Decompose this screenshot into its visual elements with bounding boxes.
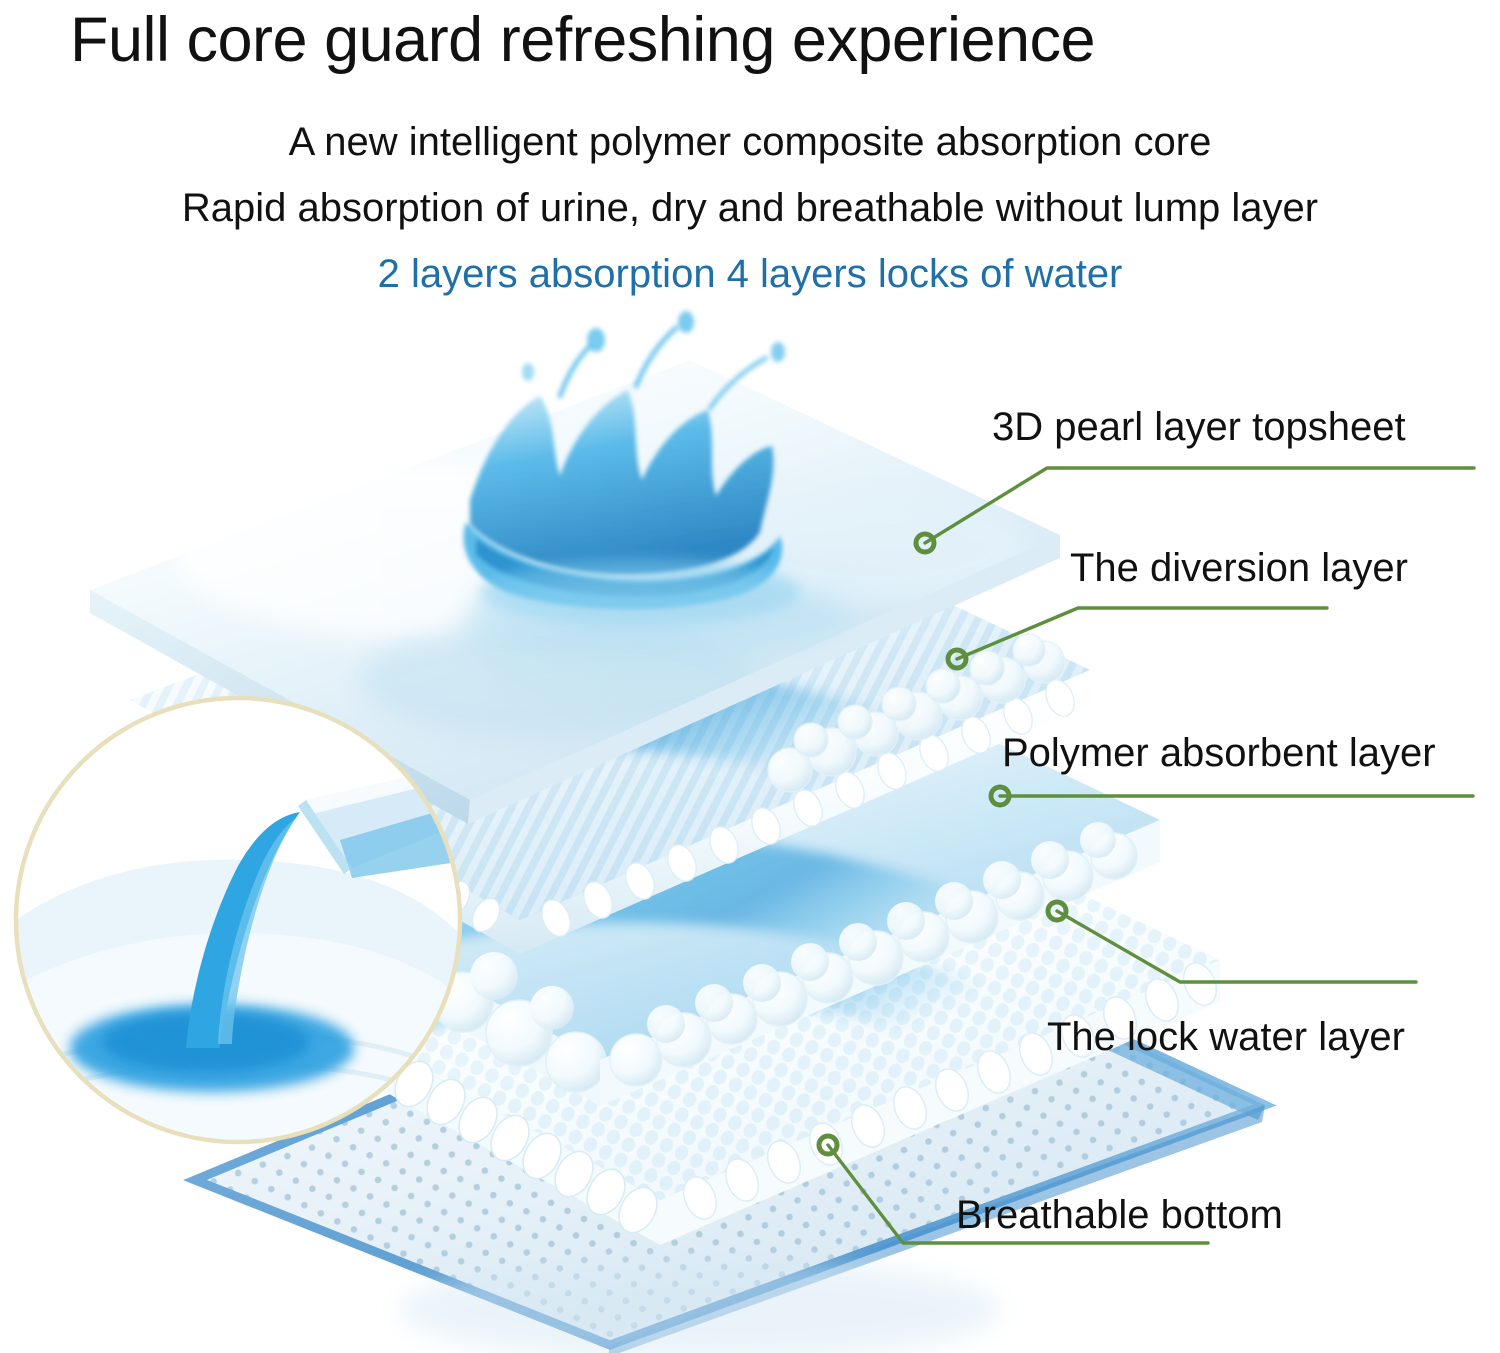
callout-label-lock-water: The lock water layer [1047, 1014, 1405, 1060]
callout-label-breathable-bottom: Breathable bottom [956, 1192, 1283, 1238]
callout-label-diversion: The diversion layer [1070, 545, 1408, 591]
callout-label-polymer: Polymer absorbent layer [1002, 730, 1436, 776]
subtitle-line-1: A new intelligent polymer composite abso… [0, 116, 1500, 168]
subtitle-line-2: Rapid absorption of urine, dry and breat… [0, 182, 1500, 234]
subtitle-line-3-highlight: 2 layers absorption 4 layers locks of wa… [0, 248, 1500, 300]
page-title: Full core guard refreshing experience [70, 2, 1095, 78]
callout-label-topsheet: 3D pearl layer topsheet [992, 404, 1406, 450]
infographic-page: Full core guard refreshing experience A … [0, 0, 1500, 1353]
